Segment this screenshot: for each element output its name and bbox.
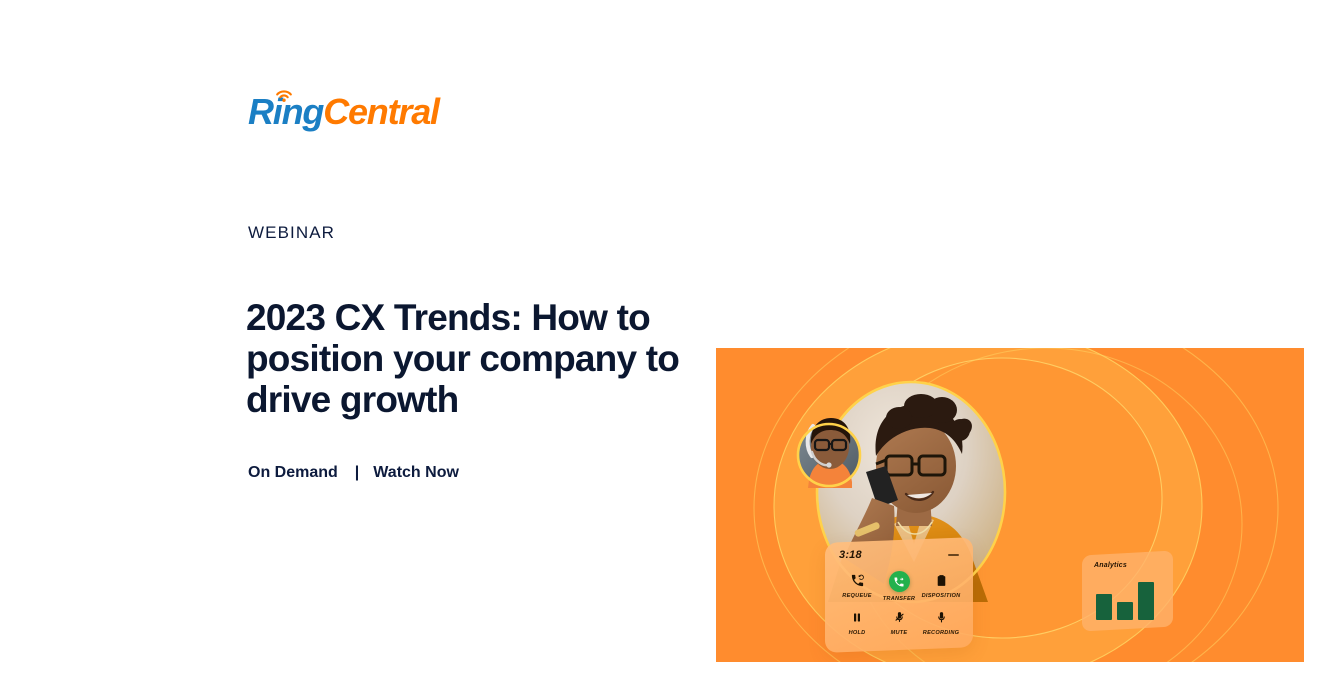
hold-button[interactable]: HOLD xyxy=(836,608,878,636)
disposition-button[interactable]: DISPOSITION xyxy=(920,571,962,602)
phone-requeue-icon xyxy=(850,571,865,590)
recording-button[interactable]: RECORDING xyxy=(920,608,962,636)
mute-label: MUTE xyxy=(891,630,908,636)
analytics-title: Analytics xyxy=(1094,562,1163,569)
microphone-muted-icon xyxy=(893,608,906,627)
call-control-panel[interactable]: 3:18 REQUEUE xyxy=(825,537,973,653)
pause-icon xyxy=(851,608,863,627)
hold-label: HOLD xyxy=(849,630,866,636)
recording-label: RECORDING xyxy=(923,630,959,636)
analytics-bar xyxy=(1117,602,1133,620)
disposition-label: DISPOSITION xyxy=(922,593,961,599)
transfer-label: TRANSFER xyxy=(883,596,915,602)
microphone-icon xyxy=(935,608,948,627)
logo-central-text: Central xyxy=(323,91,439,132)
call-timer: 3:18 xyxy=(839,549,862,561)
analytics-bar-chart xyxy=(1094,578,1163,620)
clipboard-icon xyxy=(935,571,948,590)
minimize-icon[interactable] xyxy=(948,554,959,556)
call-controls-grid: REQUEUE TRANSFER xyxy=(836,571,962,636)
watch-now-link[interactable]: Watch Now xyxy=(373,464,459,482)
logo-wordmark: RingCentral xyxy=(248,94,439,130)
meta-row: On Demand | Watch Now xyxy=(248,464,459,482)
availability-label: On Demand xyxy=(248,464,338,482)
wifi-signal-icon xyxy=(276,89,293,102)
analytics-bar xyxy=(1096,594,1112,620)
hero-image: 3:18 REQUEUE xyxy=(716,348,1304,662)
ringcentral-logo[interactable]: RingCentral xyxy=(248,90,439,134)
requeue-label: REQUEUE xyxy=(842,593,871,599)
hero-artwork xyxy=(716,348,1304,662)
phone-transfer-icon xyxy=(889,571,910,592)
page-title: 2023 CX Trends: How to position your com… xyxy=(246,297,716,420)
analytics-card[interactable]: Analytics xyxy=(1082,550,1173,631)
transfer-button[interactable]: TRANSFER xyxy=(878,571,920,602)
eyebrow-label: WEBINAR xyxy=(248,223,335,243)
requeue-button[interactable]: REQUEUE xyxy=(836,571,878,602)
mute-button[interactable]: MUTE xyxy=(878,608,920,636)
call-panel-header: 3:18 xyxy=(836,549,962,561)
meta-separator: | xyxy=(355,464,359,482)
analytics-bar xyxy=(1138,582,1154,620)
